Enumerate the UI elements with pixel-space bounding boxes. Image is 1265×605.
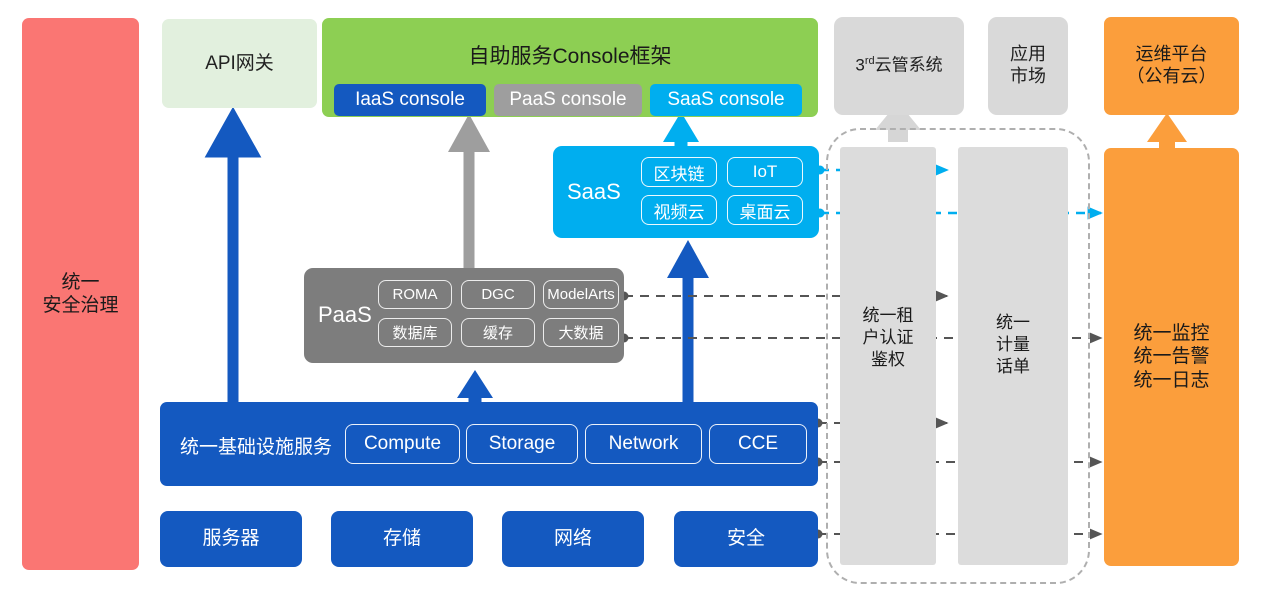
paas-layer-label: PaaS bbox=[318, 302, 372, 328]
infra-item-compute-label: Compute bbox=[364, 433, 441, 455]
paas-item-dgc-label: DGC bbox=[481, 286, 514, 303]
arrow-infra-to-api-gateway bbox=[212, 116, 254, 404]
paas-console-chip[interactable]: PaaS console bbox=[494, 84, 642, 116]
console-frame-title: 自助服务Console框架 bbox=[322, 40, 818, 70]
security-governance-line2: 安全治理 bbox=[42, 294, 118, 317]
billing-line3: 话单 bbox=[958, 356, 1068, 378]
app-market-box[interactable]: 应用 市场 bbox=[988, 17, 1068, 115]
hardware-item-network[interactable]: 网络 bbox=[502, 511, 644, 567]
saas-item-video-cloud[interactable]: 视频云 bbox=[641, 195, 717, 225]
saas-layer: SaaS 区块链 IoT 视频云 桌面云 bbox=[553, 146, 819, 238]
app-market-line1: 应用 bbox=[1010, 44, 1046, 66]
ops-platform-column[interactable]: 统一监控 统一告警 统一日志 bbox=[1104, 148, 1239, 566]
hardware-item-server-label: 服务器 bbox=[202, 527, 259, 550]
auth-line1: 统一租 bbox=[840, 305, 936, 327]
saas-console-chip[interactable]: SaaS console bbox=[650, 84, 802, 116]
hardware-item-security-label: 安全 bbox=[727, 527, 765, 550]
ops-column-line1: 统一监控 bbox=[1133, 322, 1209, 345]
infra-item-network[interactable]: Network bbox=[585, 424, 702, 464]
saas-item-video-cloud-label: 视频云 bbox=[654, 198, 705, 223]
hardware-item-security[interactable]: 安全 bbox=[674, 511, 818, 567]
infra-item-network-label: Network bbox=[609, 433, 679, 455]
saas-layer-label: SaaS bbox=[567, 179, 621, 205]
infra-item-cce-label: CCE bbox=[738, 433, 778, 455]
arrow-paas-to-console bbox=[448, 114, 490, 272]
billing-line2: 计量 bbox=[958, 334, 1068, 356]
ops-platform-header-box[interactable]: 运维平台 （公有云） bbox=[1104, 17, 1239, 115]
self-service-console-frame: 自助服务Console框架 IaaS console PaaS console … bbox=[322, 18, 818, 117]
unified-infrastructure-service-bar: 统一基础设施服务 Compute Storage Network CCE bbox=[160, 402, 818, 486]
saas-item-desktop-cloud-label: 桌面云 bbox=[740, 198, 791, 223]
unified-tenant-auth-label: 统一租 户认证 鉴权 bbox=[840, 305, 936, 370]
paas-item-modelarts-label: ModelArts bbox=[547, 286, 615, 303]
hardware-item-storage-label: 存储 bbox=[383, 527, 421, 550]
infra-item-compute[interactable]: Compute bbox=[345, 424, 460, 464]
hardware-item-storage[interactable]: 存储 bbox=[331, 511, 473, 567]
unified-metering-billing-label: 统一 计量 话单 bbox=[958, 312, 1068, 377]
paas-item-bigdata[interactable]: 大数据 bbox=[543, 318, 619, 347]
ops-column-line3: 统一日志 bbox=[1133, 369, 1209, 392]
infra-bar-label: 统一基础设施服务 bbox=[180, 432, 332, 459]
saas-item-iot-label: IoT bbox=[753, 162, 778, 182]
unified-metering-billing-column[interactable]: 统一 计量 话单 bbox=[958, 147, 1068, 565]
paas-item-dgc[interactable]: DGC bbox=[461, 280, 535, 309]
paas-item-modelarts[interactable]: ModelArts bbox=[543, 280, 619, 309]
iaas-console-label: IaaS console bbox=[355, 89, 465, 111]
architecture-diagram: 统一 安全治理 API网关 自助服务Console框架 IaaS console… bbox=[0, 0, 1265, 605]
paas-console-label: PaaS console bbox=[509, 89, 626, 111]
api-gateway-box[interactable]: API网关 bbox=[162, 19, 317, 108]
ops-platform-line2: （公有云） bbox=[1127, 66, 1217, 88]
paas-item-roma-label: ROMA bbox=[393, 286, 438, 303]
paas-item-cache[interactable]: 缓存 bbox=[461, 318, 535, 347]
paas-layer: PaaS ROMA DGC ModelArts 数据库 缓存 大数据 bbox=[304, 268, 624, 363]
auth-line3: 鉴权 bbox=[840, 349, 936, 371]
paas-item-bigdata-label: 大数据 bbox=[558, 322, 603, 343]
infra-item-cce[interactable]: CCE bbox=[709, 424, 807, 464]
third-party-cloud-management-box[interactable]: 3rd云管系统 bbox=[834, 17, 964, 115]
iaas-console-chip[interactable]: IaaS console bbox=[334, 84, 486, 116]
hardware-item-network-label: 网络 bbox=[554, 527, 592, 550]
ops-platform-line1: 运维平台 bbox=[1136, 44, 1208, 66]
arrow-ops-column-to-ops-header bbox=[1147, 113, 1187, 152]
paas-item-roma[interactable]: ROMA bbox=[378, 280, 452, 309]
saas-item-desktop-cloud[interactable]: 桌面云 bbox=[727, 195, 803, 225]
paas-item-cache-label: 缓存 bbox=[483, 322, 513, 343]
unified-security-governance-column: 统一 安全治理 bbox=[22, 18, 139, 570]
security-governance-line1: 统一 bbox=[61, 271, 99, 294]
infra-item-storage-label: Storage bbox=[489, 433, 556, 455]
infra-item-storage[interactable]: Storage bbox=[466, 424, 578, 464]
paas-item-database[interactable]: 数据库 bbox=[378, 318, 452, 347]
paas-item-database-label: 数据库 bbox=[392, 322, 437, 343]
api-gateway-label: API网关 bbox=[205, 52, 274, 75]
auth-line2: 户认证 bbox=[840, 327, 936, 349]
third-party-label: 3rd云管系统 bbox=[855, 55, 942, 76]
app-market-line2: 市场 bbox=[1010, 66, 1046, 88]
hardware-item-server[interactable]: 服务器 bbox=[160, 511, 302, 567]
saas-console-label: SaaS console bbox=[667, 89, 784, 111]
saas-item-blockchain-label: 区块链 bbox=[654, 160, 705, 185]
ops-column-line2: 统一告警 bbox=[1133, 345, 1209, 368]
unified-tenant-auth-column[interactable]: 统一租 户认证 鉴权 bbox=[840, 147, 936, 565]
saas-item-blockchain[interactable]: 区块链 bbox=[641, 157, 717, 187]
arrow-infra-to-saas bbox=[667, 240, 709, 406]
saas-item-iot[interactable]: IoT bbox=[727, 157, 803, 187]
billing-line1: 统一 bbox=[958, 312, 1068, 334]
